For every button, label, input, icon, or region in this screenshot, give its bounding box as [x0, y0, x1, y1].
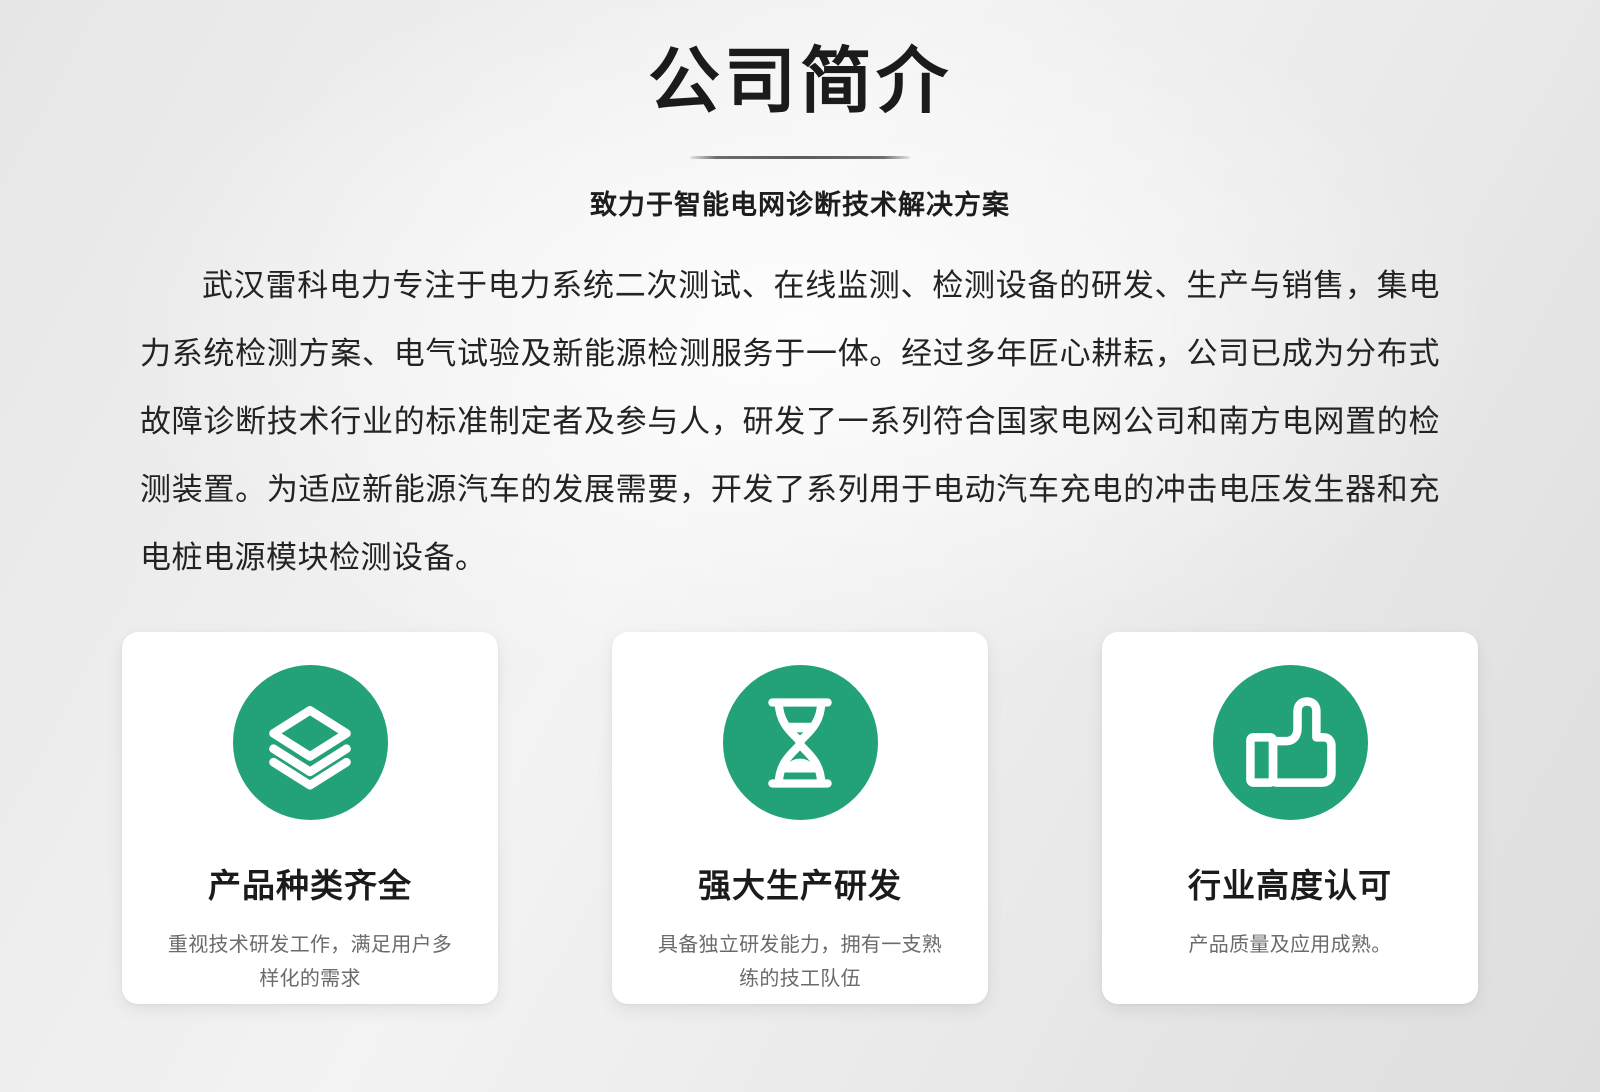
feature-card-desc: 具备独立研发能力，拥有一支熟练的技工队伍 [650, 907, 950, 996]
feature-card-list: 产品种类齐全 重视技术研发工作，满足用户多样化的需求 强大生产研发 具备独立 [122, 632, 1478, 1004]
feature-card[interactable]: 产品种类齐全 重视技术研发工作，满足用户多样化的需求 [122, 632, 498, 1004]
feature-card-title: 强大生产研发 [698, 820, 902, 907]
hourglass-icon [723, 665, 878, 820]
layers-icon [233, 665, 388, 820]
page-subtitle: 致力于智能电网诊断技术解决方案 [0, 159, 1600, 222]
feature-card[interactable]: 强大生产研发 具备独立研发能力，拥有一支熟练的技工队伍 [612, 632, 988, 1004]
page-title: 公司简介 [0, 0, 1600, 118]
thumbs-up-icon [1213, 665, 1368, 820]
feature-card-title: 行业高度认可 [1188, 820, 1392, 907]
feature-card-title: 产品种类齐全 [208, 820, 412, 907]
feature-card[interactable]: 行业高度认可 产品质量及应用成熟。 [1102, 632, 1478, 1004]
feature-card-desc: 产品质量及应用成熟。 [1140, 907, 1440, 962]
company-intro: 武汉雷科电力专注于电力系统二次测试、在线监测、检测设备的研发、生产与销售，集电力… [140, 252, 1440, 592]
company-profile-page: 公司简介 致力于智能电网诊断技术解决方案 武汉雷科电力专注于电力系统二次测试、在… [0, 0, 1600, 1092]
page-header: 公司简介 致力于智能电网诊断技术解决方案 [0, 0, 1600, 222]
feature-card-desc: 重视技术研发工作，满足用户多样化的需求 [160, 907, 460, 996]
intro-paragraph: 武汉雷科电力专注于电力系统二次测试、在线监测、检测设备的研发、生产与销售，集电力… [140, 252, 1440, 592]
